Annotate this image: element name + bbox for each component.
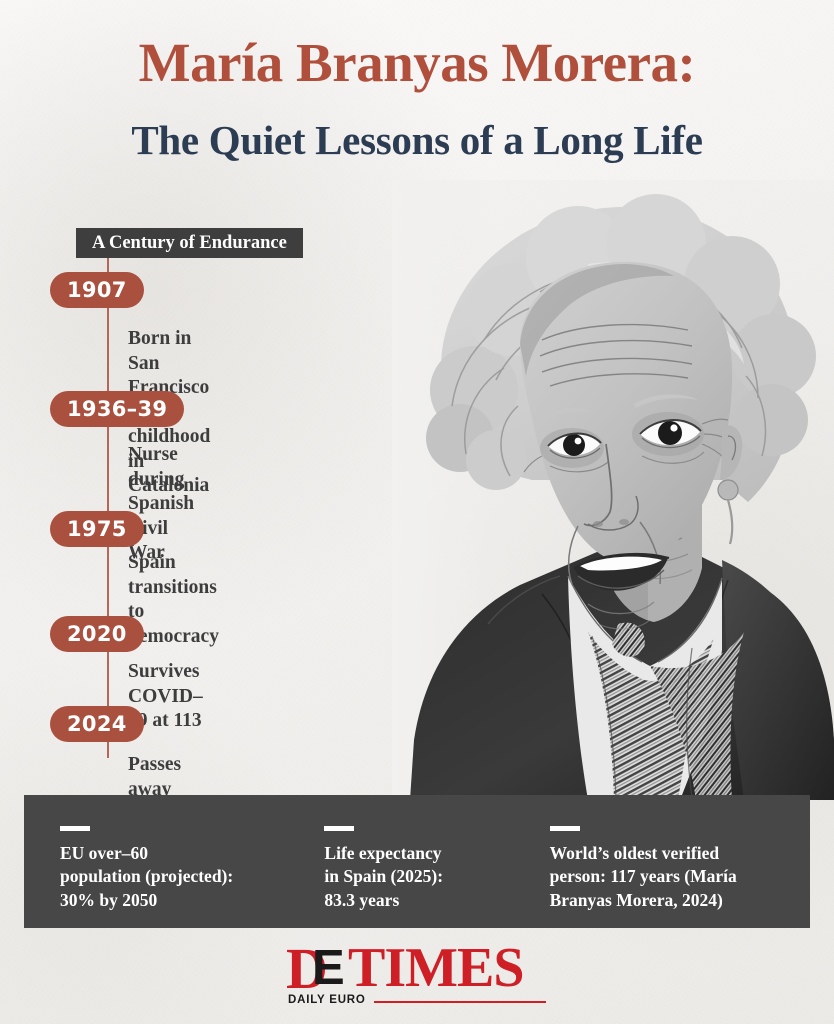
poster-header: María Branyas Morera: The Quiet Lessons … <box>0 34 834 163</box>
logo-wordmark: TIMES <box>348 944 524 993</box>
portrait-illustration <box>392 180 834 800</box>
timeline-year-badge[interactable]: 1936–39 <box>50 391 184 427</box>
logo-letter-e: E <box>312 944 345 993</box>
timeline-year-badge[interactable]: 2024 <box>50 706 144 742</box>
page-title: María Branyas Morera: <box>0 34 834 92</box>
logo-tagline: DAILY EURO <box>288 994 366 1006</box>
stat-text: World’s oldest verified person: 117 year… <box>550 842 796 912</box>
stat-life-expectancy: Life expectancy in Spain (2025): 83.3 ye… <box>298 795 527 928</box>
detimes-logo[interactable]: D E TIMES DAILY EURO <box>286 944 548 1006</box>
stat-rule-icon <box>60 826 90 831</box>
stat-worlds-oldest: World’s oldest verified person: 117 year… <box>528 795 810 928</box>
timeline-year-badge[interactable]: 1975 <box>50 511 144 547</box>
footer-logo-area: D E TIMES DAILY EURO <box>0 944 834 1006</box>
timeline-heading: A Century of Endurance <box>76 228 303 258</box>
page-subtitle: The Quiet Lessons of a Long Life <box>0 118 834 163</box>
stat-text: EU over–60 population (projected): 30% b… <box>60 842 284 912</box>
stat-rule-icon <box>324 826 354 831</box>
timeline-event-text: Nurse during Spanish Civil War <box>128 443 194 566</box>
timeline-year-badge[interactable]: 2020 <box>50 616 144 652</box>
stat-text: Life expectancy in Spain (2025): 83.3 ye… <box>324 842 513 912</box>
timeline: A Century of Endurance 1907 Born in San … <box>0 228 420 773</box>
stats-bar: EU over–60 population (projected): 30% b… <box>24 795 810 928</box>
timeline-year-badge[interactable]: 1907 <box>50 272 144 308</box>
timeline-axis-line <box>107 258 109 758</box>
infographic-poster: María Branyas Morera: The Quiet Lessons … <box>0 0 834 1024</box>
logo-rule-icon <box>374 1001 546 1003</box>
stat-rule-icon <box>550 826 580 831</box>
stat-eu-over-60: EU over–60 population (projected): 30% b… <box>24 795 298 928</box>
